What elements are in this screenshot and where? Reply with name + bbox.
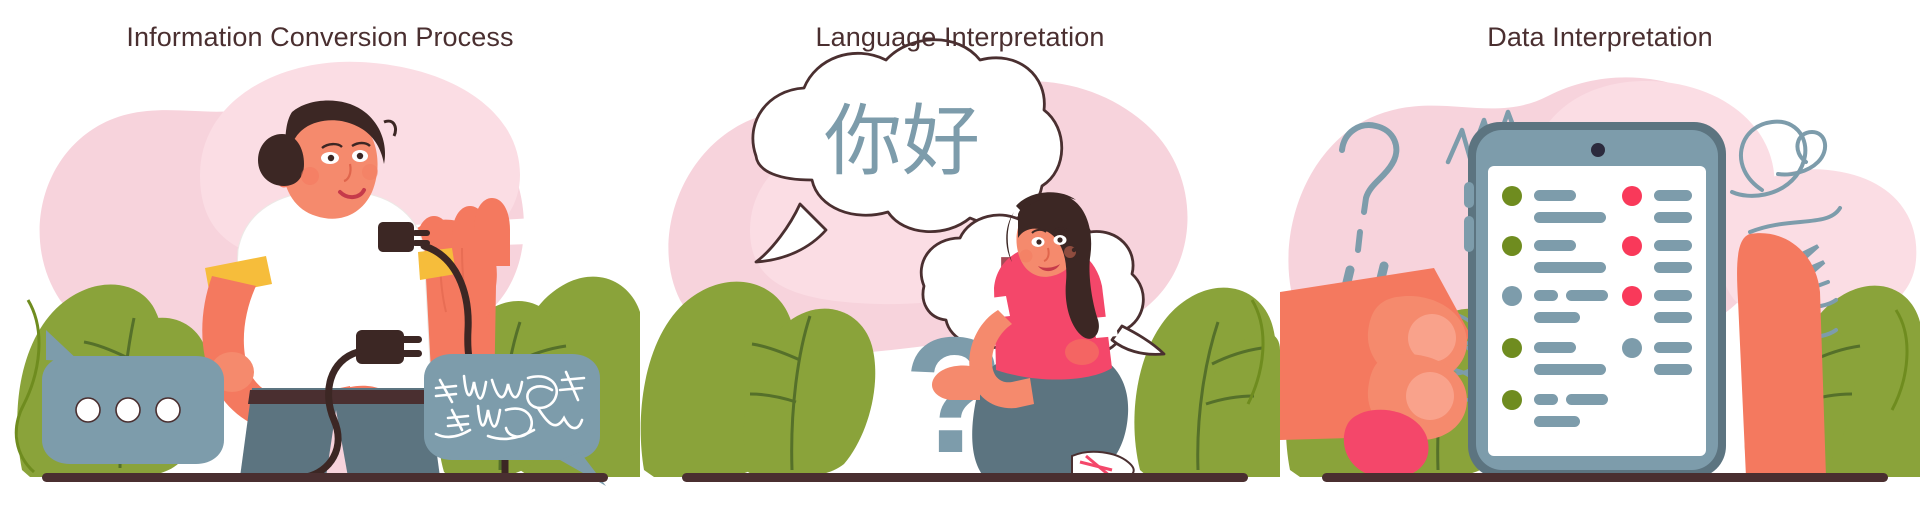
panel-title-3: Data Interpretation xyxy=(1280,22,1920,53)
chinese-greeting-text: 你好 xyxy=(824,97,980,187)
ground-line xyxy=(1322,473,1888,482)
panel-title-2: Language Interpretation xyxy=(640,22,1280,53)
phone-camera xyxy=(1591,143,1605,157)
scene-language-interpretation: 你好 HI ? xyxy=(640,0,1280,513)
scene-data-interpretation xyxy=(1280,0,1920,513)
panel-information-conversion-process: Information Conversion Process xyxy=(0,0,640,513)
typing-dots xyxy=(76,398,180,422)
ground-line xyxy=(42,473,608,482)
panel-title-1: Information Conversion Process xyxy=(0,22,640,53)
plant-right xyxy=(1134,288,1280,477)
panel-language-interpretation: Language Interpretation xyxy=(640,0,1280,513)
ground-line xyxy=(682,473,1248,482)
illustration-board: Information Conversion Process xyxy=(0,0,1920,513)
panel-data-interpretation: Data Interpretation xyxy=(1280,0,1920,513)
scene-information-conversion-process xyxy=(0,0,640,513)
smartphone[interactable] xyxy=(1464,122,1726,478)
background-arm xyxy=(1737,233,1826,477)
phone-screen xyxy=(1488,166,1706,456)
